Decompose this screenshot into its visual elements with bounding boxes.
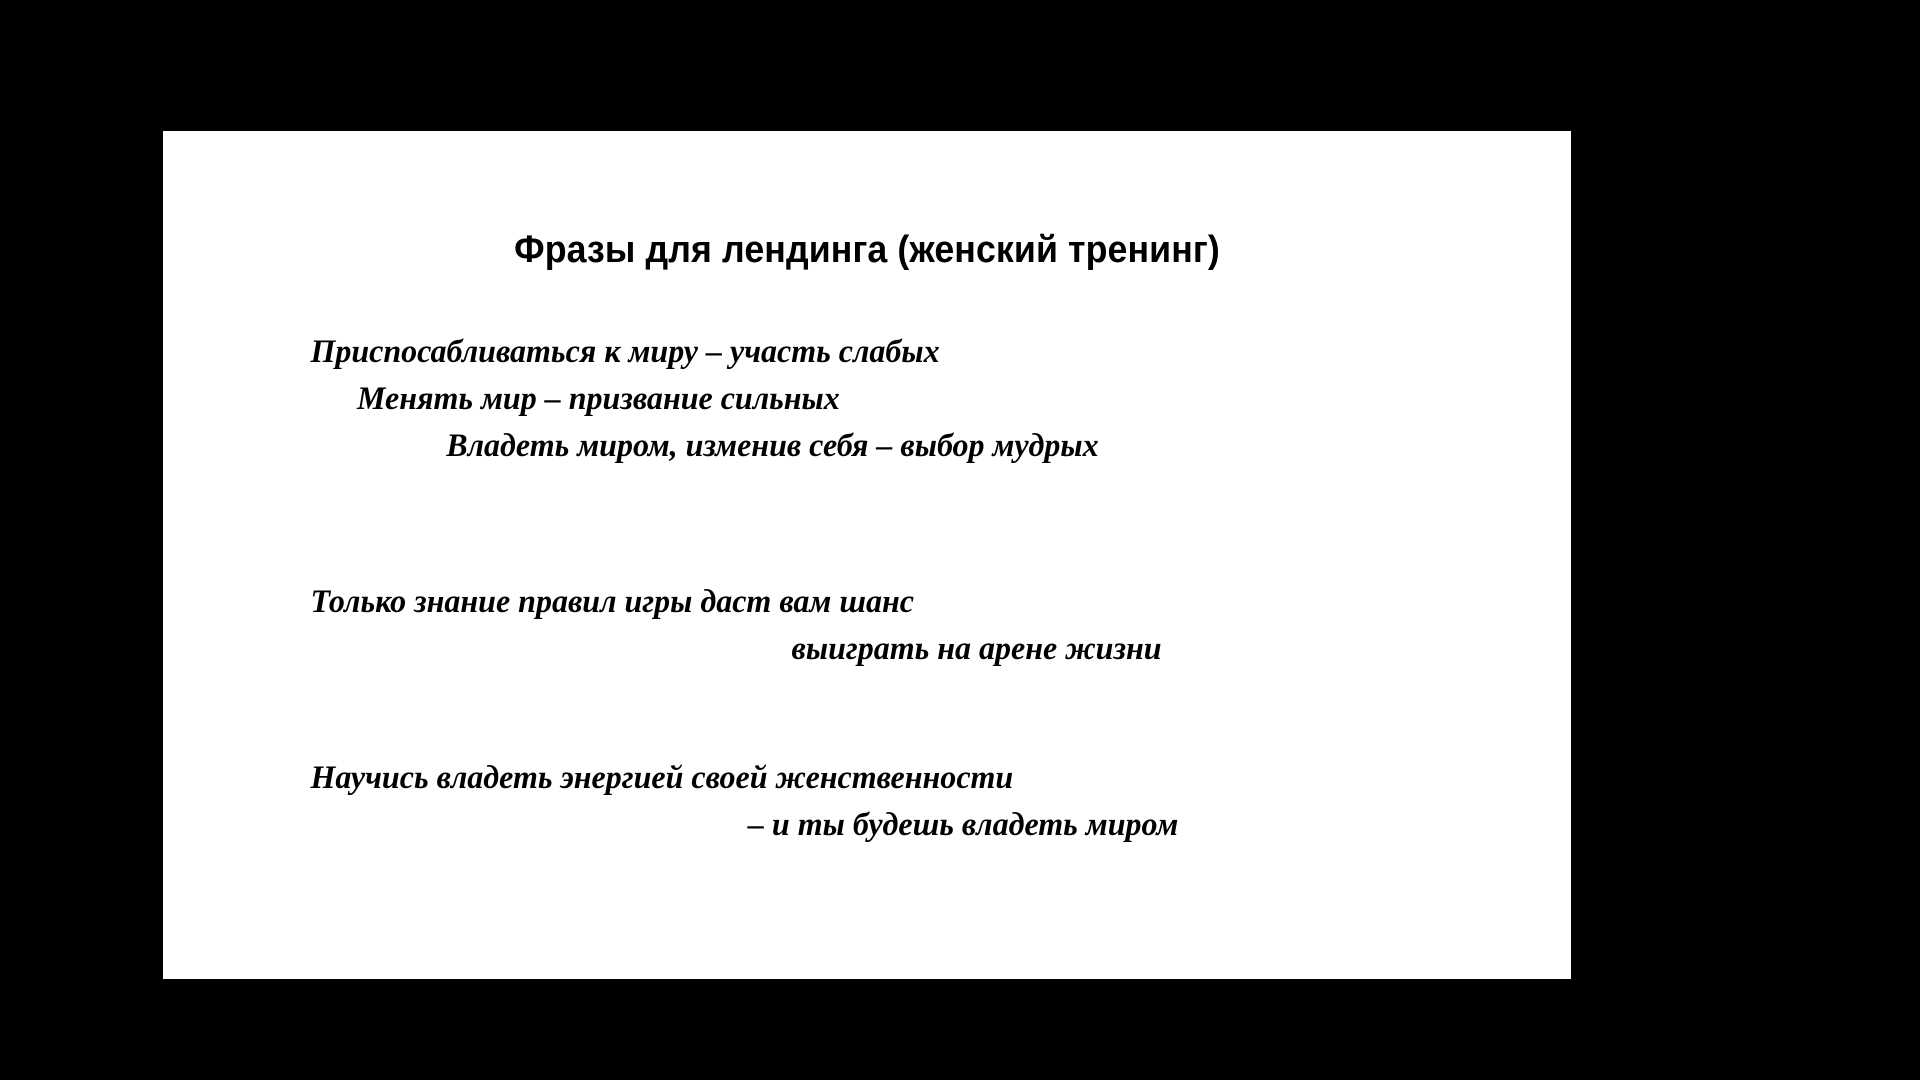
text-line: Научись владеть энергией своей женственн… bbox=[163, 755, 1529, 802]
text-line: выиграть на арене жизни bbox=[163, 626, 1529, 673]
text-line: Менять мир – призвание сильных bbox=[163, 376, 1529, 423]
slide-stage: Фразы для лендинга (женский тренинг) При… bbox=[0, 0, 1920, 1080]
text-line: Владеть миром, изменив себя – выбор мудр… bbox=[163, 423, 1529, 470]
text-block-2: Только знание правил игры даст вам шанс … bbox=[163, 579, 1571, 673]
text-line: Только знание правил игры даст вам шанс bbox=[163, 579, 1529, 626]
slide-title: Фразы для лендинга (женский тренинг) bbox=[205, 229, 1529, 273]
text-line: Приспосабливаться к миру – участь слабых bbox=[163, 329, 1529, 376]
text-block-1: Приспосабливаться к миру – участь слабых… bbox=[163, 329, 1571, 470]
slide-content-area: Фразы для лендинга (женский тренинг) При… bbox=[163, 131, 1571, 979]
text-line: – и ты будешь владеть миром bbox=[163, 802, 1529, 849]
slide-canvas: Фразы для лендинга (женский тренинг) При… bbox=[163, 131, 1571, 979]
text-block-3: Научись владеть энергией своей женственн… bbox=[163, 755, 1571, 849]
